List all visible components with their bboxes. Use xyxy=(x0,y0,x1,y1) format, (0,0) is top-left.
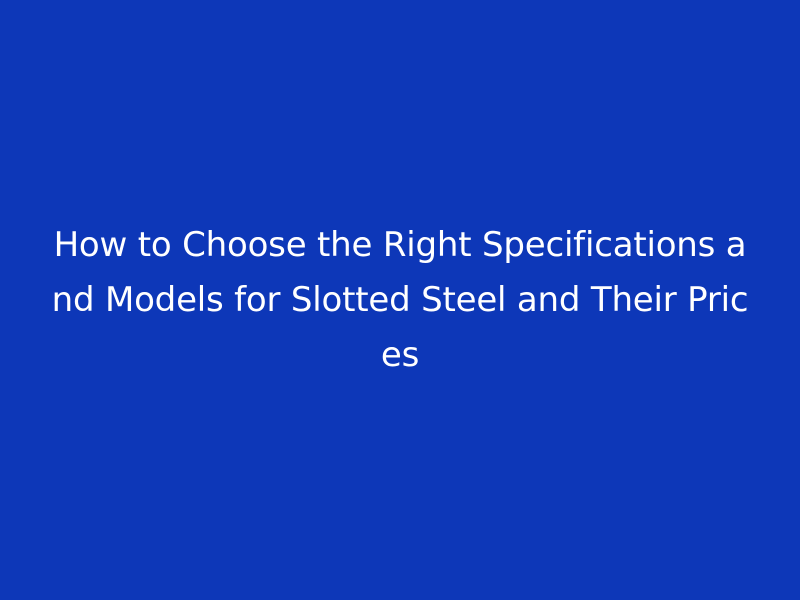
title-banner: How to Choose the Right Specifications a… xyxy=(0,0,800,600)
page-title: How to Choose the Right Specifications a… xyxy=(47,218,753,383)
